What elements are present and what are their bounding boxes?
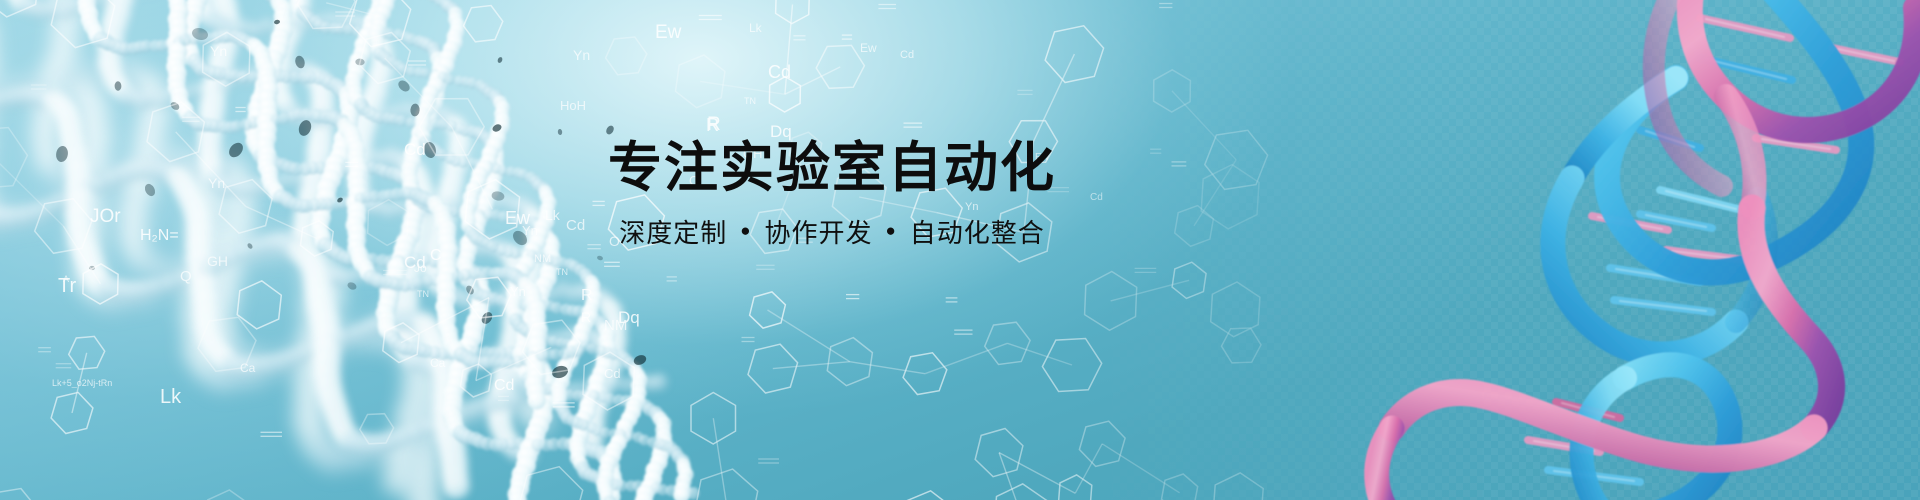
molecule-label: Cd bbox=[1090, 192, 1103, 203]
molecule-label: Ew bbox=[505, 208, 531, 228]
molecule-label: R bbox=[581, 309, 591, 325]
molecule-label: Ca bbox=[430, 356, 446, 370]
molecule-label: Ew bbox=[655, 22, 682, 43]
molecule-label: Lk bbox=[545, 207, 561, 223]
molecule-label: Dq bbox=[618, 308, 640, 327]
molecule-label: Q bbox=[180, 268, 192, 285]
bullet-separator-icon: ● bbox=[886, 222, 897, 239]
bullet-separator-icon: ● bbox=[740, 222, 751, 239]
molecule-label: Cd bbox=[900, 49, 914, 61]
molecule-label: R bbox=[707, 114, 721, 135]
molecule-label: Yn bbox=[210, 43, 227, 59]
molecule-label: JOr bbox=[90, 206, 121, 227]
molecule-label: H₂N= bbox=[140, 227, 179, 244]
subtitle-part-1: 深度定制 bbox=[619, 213, 727, 250]
molecule-label: Cd bbox=[566, 217, 585, 234]
molecule-label: R bbox=[706, 115, 719, 135]
molecule-label: Yn bbox=[510, 284, 526, 299]
molecule-label: A bbox=[63, 274, 69, 284]
molecule-label: TN bbox=[744, 96, 756, 106]
molecule-label: R bbox=[581, 287, 593, 304]
hero-subtitle: 深度定制 ● 协作开发 ● 自动化整合 bbox=[592, 213, 1072, 250]
molecule-label: HoH bbox=[560, 98, 586, 113]
hero-banner: TrLk+5_o2Nj-tRnLkJOrH₂N=QGHCaAYnYnCdCdCd… bbox=[0, 0, 1920, 500]
molecule-label: Jo bbox=[414, 261, 427, 275]
molecule-label: Yn bbox=[522, 223, 538, 238]
molecule-label: Lk+5_o2Nj-tRn bbox=[52, 378, 112, 388]
molecule-label: C bbox=[430, 247, 442, 264]
molecule-label: NM bbox=[534, 253, 551, 265]
molecule-label: Ew bbox=[860, 41, 877, 55]
molecule-label: TN bbox=[556, 267, 568, 277]
subtitle-part-3: 自动化整合 bbox=[910, 213, 1045, 250]
molecule-label: Cd bbox=[604, 366, 621, 381]
molecule-label: Tr bbox=[58, 275, 76, 297]
page-title: 专注实验室自动化 bbox=[592, 140, 1072, 197]
molecule-label: Cd bbox=[404, 140, 426, 159]
molecule-label: Lk bbox=[160, 386, 182, 408]
subtitle-part-2: 协作开发 bbox=[764, 213, 872, 250]
molecule-label: Yn bbox=[573, 47, 590, 63]
molecule-label: NM bbox=[604, 317, 627, 334]
molecule-label: Cd bbox=[768, 62, 791, 82]
molecule-label: Cd bbox=[494, 377, 514, 394]
molecule-label: Lk bbox=[749, 21, 763, 35]
molecule-label: Yn bbox=[208, 175, 225, 191]
molecule-label: Ca bbox=[240, 361, 256, 375]
hero-text-block: 专注实验室自动化 深度定制 ● 协作开发 ● 自动化整合 bbox=[592, 140, 1072, 250]
molecule-label: Cd bbox=[404, 253, 426, 272]
molecule-label: GH bbox=[207, 253, 228, 269]
molecule-label: TN bbox=[417, 289, 429, 299]
